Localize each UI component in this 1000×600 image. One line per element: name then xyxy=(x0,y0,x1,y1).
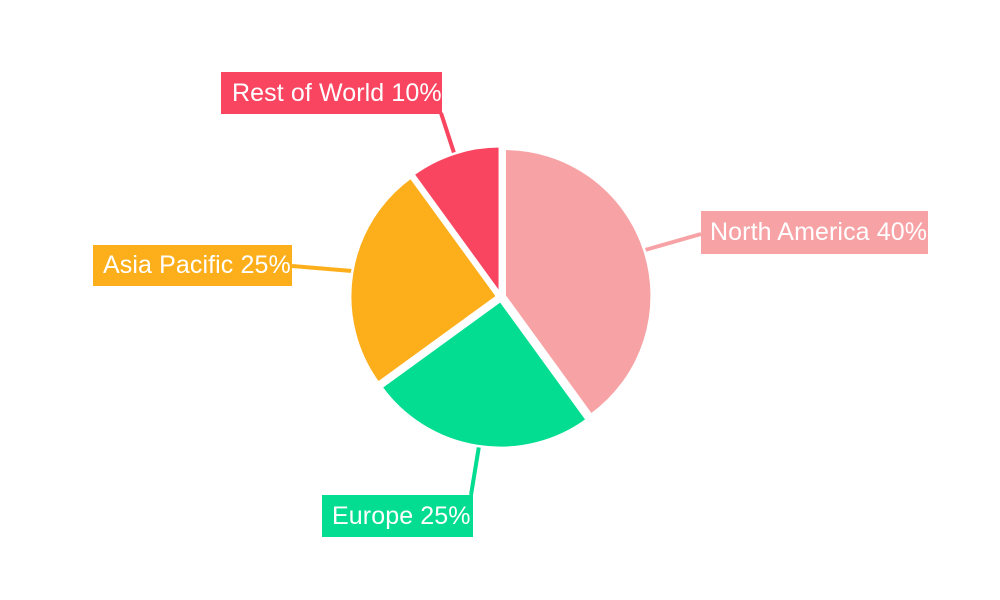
pie-label-asia-pacific-text: Asia Pacific 25% xyxy=(103,253,291,278)
pie-label-north-america-text: North America 40% xyxy=(710,220,927,245)
leader-line-rest-of-world xyxy=(441,113,456,159)
chart-canvas: North America 40% Rest of World 10% Asia… xyxy=(0,0,1000,600)
pie-label-asia-pacific: Asia Pacific 25% xyxy=(93,245,292,286)
pie-slice-group xyxy=(350,146,652,448)
leader-line-europe xyxy=(471,446,479,495)
pie-chart xyxy=(0,0,1000,600)
pie-label-rest-of-world-text: Rest of World 10% xyxy=(232,81,442,106)
pie-label-europe: Europe 25% xyxy=(322,495,473,537)
leader-line-north-america xyxy=(645,234,701,250)
leader-line-asia-pacific xyxy=(292,266,352,271)
pie-label-rest-of-world: Rest of World 10% xyxy=(221,72,442,114)
pie-label-europe-text: Europe 25% xyxy=(332,504,471,529)
pie-label-north-america: North America 40% xyxy=(701,211,928,254)
